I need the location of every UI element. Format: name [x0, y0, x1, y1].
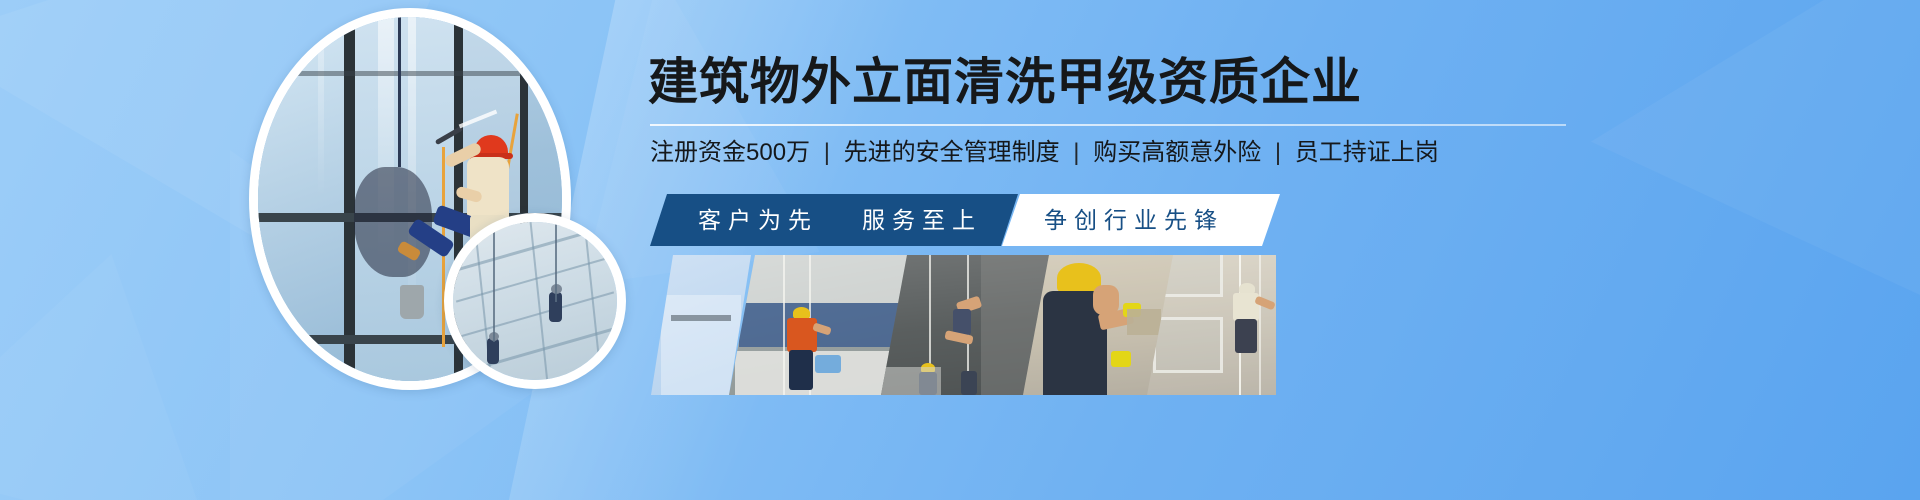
- circle-photo-secondary: [444, 213, 626, 389]
- subtitle-item-0: 注册资金500万: [650, 139, 810, 166]
- subtitle: 注册资金500万 | 先进的安全管理制度 | 购买高额意外险 | 员工持证上岗: [650, 134, 1439, 172]
- subtitle-separator: |: [1268, 139, 1288, 166]
- subtitle-item-3: 员工持证上岗: [1295, 139, 1439, 166]
- slogan-bar: 客户为先 服务至上 争创行业先锋: [650, 194, 1280, 246]
- photo-strip: [651, 255, 1276, 395]
- subtitle-separator: |: [1066, 139, 1086, 166]
- subtitle-item-2: 购买高额意外险: [1093, 139, 1261, 166]
- page-title: 建筑物外立面清洗甲级资质企业: [648, 52, 1362, 112]
- subtitle-item-1: 先进的安全管理制度: [844, 139, 1060, 166]
- title-divider: [650, 124, 1566, 126]
- triangle-shape-4: [1591, 0, 1920, 328]
- photo-panel-1: [729, 255, 909, 395]
- slogan-text-0: 客户为先: [698, 194, 818, 246]
- slogan-text-1: 服务至上: [862, 194, 982, 246]
- slogan-text-2: 争创行业先锋: [1044, 194, 1224, 246]
- subtitle-separator: |: [817, 139, 837, 166]
- facade-photo-secondary: [453, 222, 617, 380]
- promo-banner: 建筑物外立面清洗甲级资质企业 注册资金500万 | 先进的安全管理制度 | 购买…: [0, 0, 1920, 500]
- photo-panel-2: [881, 255, 1051, 395]
